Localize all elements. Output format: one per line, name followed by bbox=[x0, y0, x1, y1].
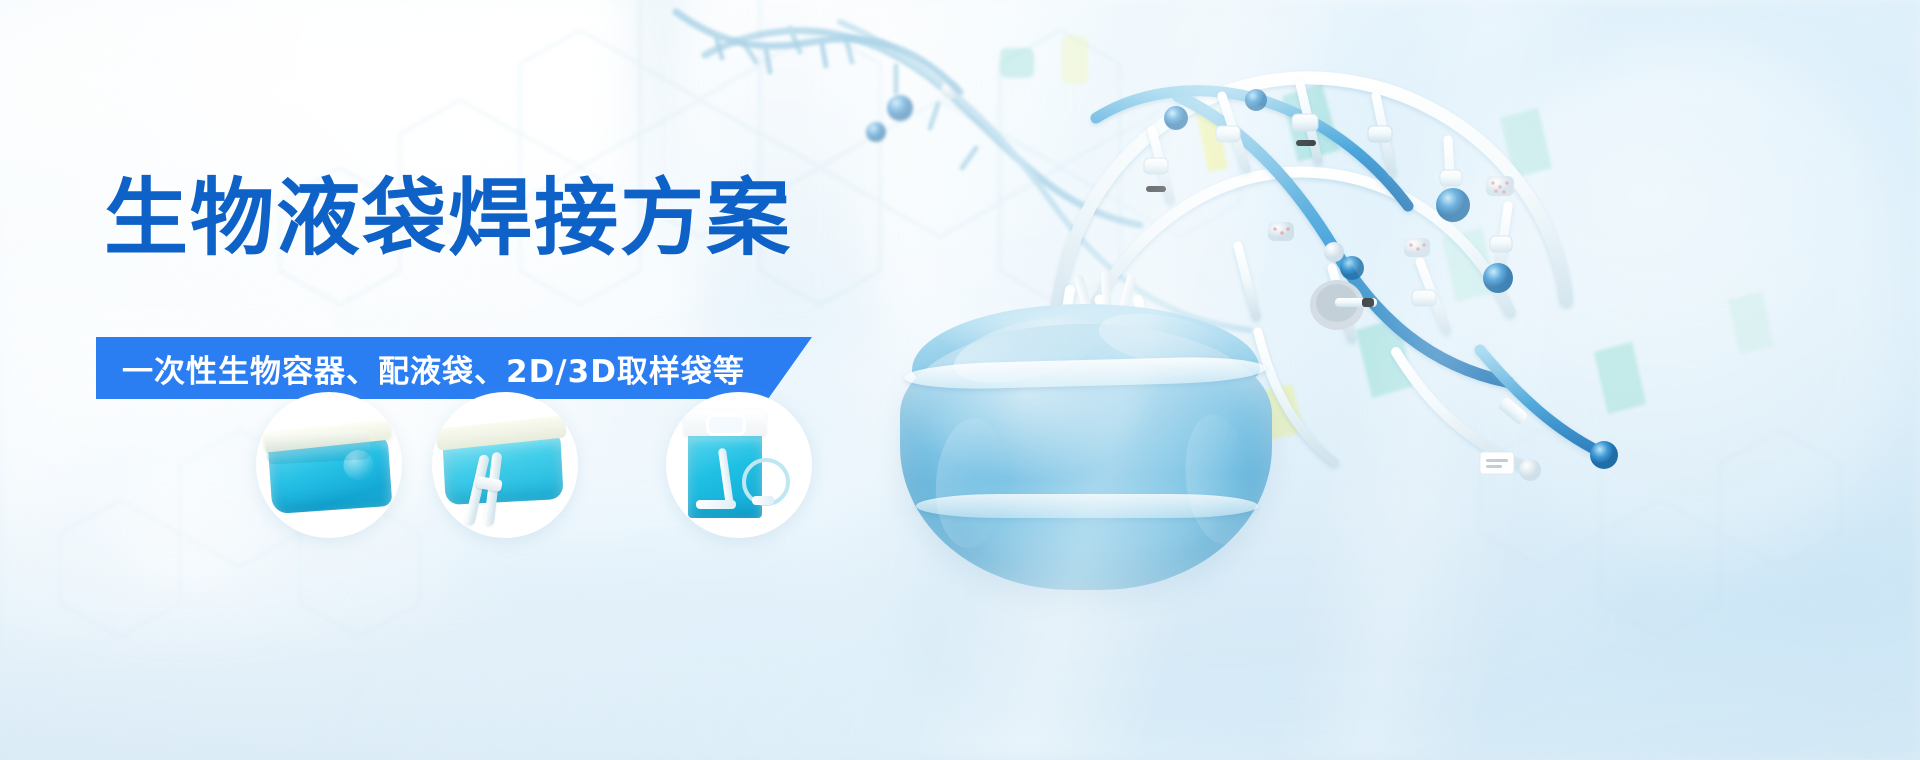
flat-pillow-liquid-bag-icon bbox=[256, 392, 402, 538]
banner-title: 生物液袋焊接方案 bbox=[104, 176, 792, 260]
3d-cube-bag-with-tubing-icon bbox=[432, 392, 578, 538]
hero-banner: 生物液袋焊接方案 一次性生物容器、配液袋、2D/3D取样袋等 bbox=[0, 0, 1920, 760]
banner-subtitle-text: 一次性生物容器、配液袋、2D/3D取样袋等 bbox=[96, 346, 745, 391]
banner-subtitle-ribbon: 一次性生物容器、配液袋、2D/3D取样袋等 bbox=[96, 337, 812, 399]
product-thumb-1 bbox=[256, 392, 402, 538]
product-thumb-3 bbox=[666, 392, 812, 538]
product-thumb-2 bbox=[432, 392, 578, 538]
large-3d-bioreactor-bag-icon bbox=[900, 298, 1272, 590]
sampling-bag-with-coiled-tube-icon bbox=[666, 392, 812, 538]
